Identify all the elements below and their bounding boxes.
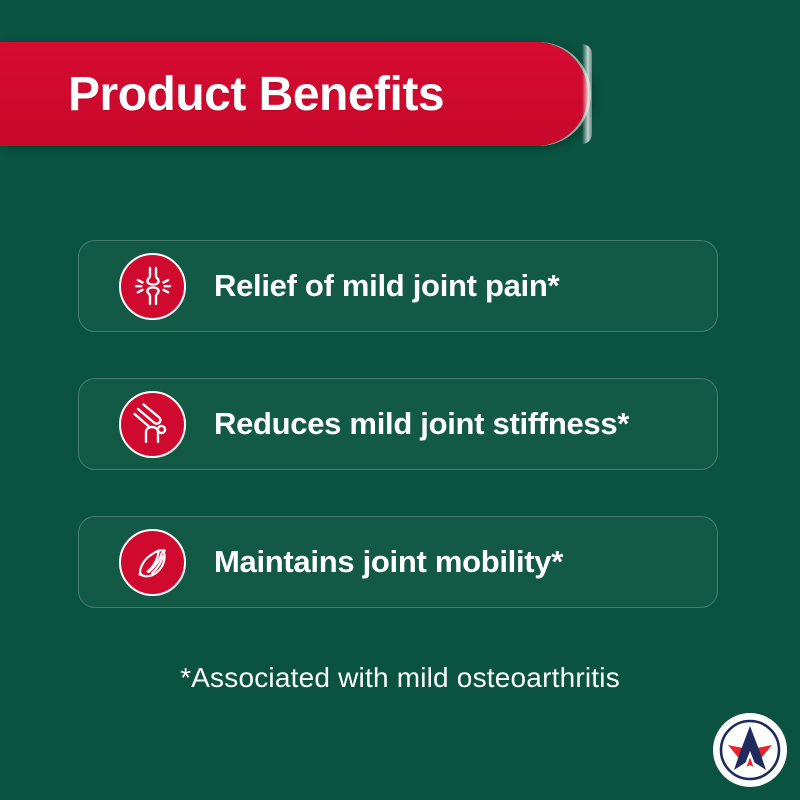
benefits-list: Relief of mild joint pain* Reduces mild … xyxy=(78,240,718,608)
header-banner: Product Benefits xyxy=(0,42,588,146)
page-title: Product Benefits xyxy=(0,67,444,122)
benefit-label: Reduces mild joint stiffness* xyxy=(214,406,629,442)
benefit-card-joint-stiffness[interactable]: Reduces mild joint stiffness* xyxy=(78,378,718,470)
joint-mobility-icon xyxy=(119,529,186,596)
joint-pain-icon xyxy=(119,253,186,320)
footnote-text: *Associated with mild osteoarthritis xyxy=(0,662,800,694)
benefit-card-joint-mobility[interactable]: Maintains joint mobility* xyxy=(78,516,718,608)
benefit-card-joint-pain[interactable]: Relief of mild joint pain* xyxy=(78,240,718,332)
benefit-label: Maintains joint mobility* xyxy=(214,544,563,580)
benefit-label: Relief of mild joint pain* xyxy=(214,268,559,304)
brand-star-logo xyxy=(713,713,787,787)
joint-stiffness-icon xyxy=(119,391,186,458)
